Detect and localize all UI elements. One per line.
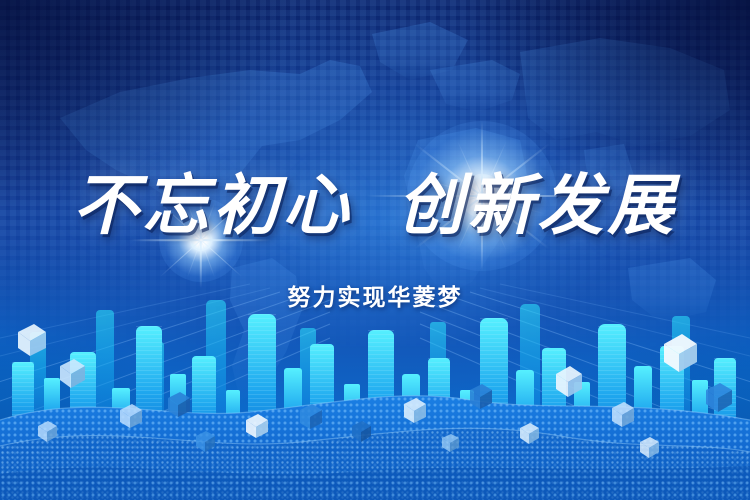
page-title: 不忘初心 创新发展 [0,172,750,238]
page-subtitle: 努力实现华菱梦 [0,278,750,312]
promo-banner: 不忘初心 创新发展 努力实现华菱梦 [0,0,750,500]
